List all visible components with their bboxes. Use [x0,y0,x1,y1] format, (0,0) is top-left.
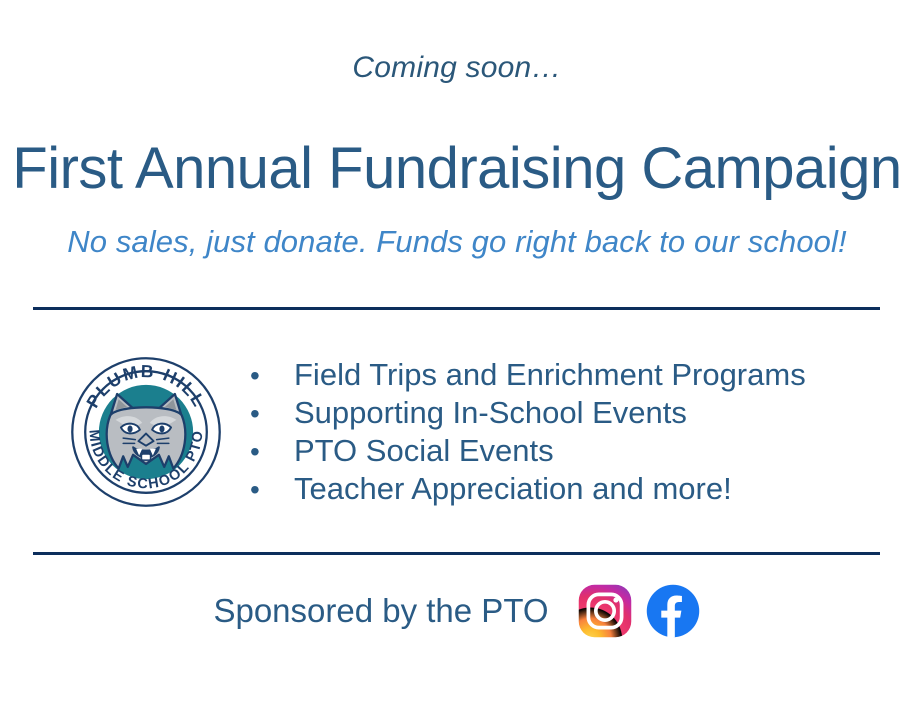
footer: Sponsored by the PTO [0,578,914,644]
list-item-label: Teacher Appreciation and more! [294,470,732,508]
bullet-marker: • [250,471,294,509]
bullet-marker: • [250,395,294,433]
list-item-label: PTO Social Events [294,432,554,470]
fundraising-flyer: Coming soon… First Annual Fundraising Ca… [0,0,914,712]
list-item: • Field Trips and Enrichment Programs [250,356,806,394]
benefits-list: • Field Trips and Enrichment Programs • … [250,356,806,508]
sponsor-label: Sponsored by the PTO [213,591,548,631]
bullet-marker: • [250,357,294,395]
list-item: • PTO Social Events [250,432,806,470]
list-item-label: Field Trips and Enrichment Programs [294,356,806,394]
page-title: First Annual Fundraising Campaign [0,134,914,204]
list-item-label: Supporting In-School Events [294,394,687,432]
school-logo: PLUMB HILL MIDDLE SCHOOL PTO [70,356,222,508]
coming-soon-eyebrow: Coming soon… [0,50,914,86]
divider-bottom [33,552,880,555]
facebook-icon[interactable] [645,583,701,639]
page-subtitle: No sales, just donate. Funds go right ba… [0,222,914,262]
middle-section: PLUMB HILL MIDDLE SCHOOL PTO [0,340,914,540]
bullet-marker: • [250,433,294,471]
list-item: • Supporting In-School Events [250,394,806,432]
divider-top [33,307,880,310]
instagram-icon[interactable] [577,583,633,639]
list-item: • Teacher Appreciation and more! [250,470,806,508]
social-links [577,583,701,639]
